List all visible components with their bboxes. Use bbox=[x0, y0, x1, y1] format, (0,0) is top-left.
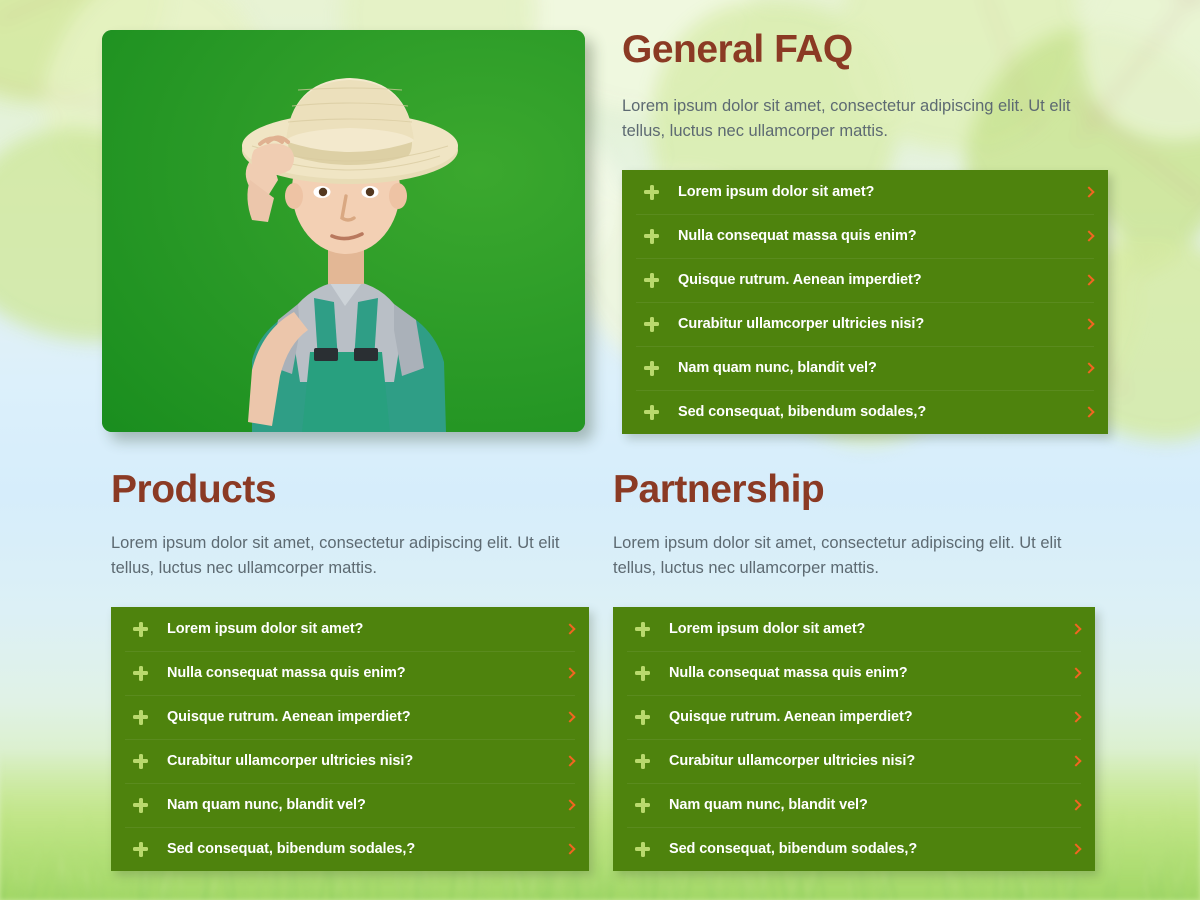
faq-item[interactable]: Curabitur ullamcorper ultricies nisi? bbox=[111, 739, 589, 783]
plus-icon bbox=[635, 798, 650, 813]
partnership-faq-list: Lorem ipsum dolor sit amet?Nulla consequ… bbox=[613, 607, 1095, 871]
grass-blade bbox=[22, 846, 28, 900]
plus-icon bbox=[133, 666, 148, 681]
chevron-right-icon[interactable] bbox=[1071, 842, 1081, 856]
faq-item[interactable]: Nam quam nunc, blandit vel? bbox=[622, 346, 1108, 390]
faq-item[interactable]: Quisque rutrum. Aenean imperdiet? bbox=[613, 695, 1095, 739]
chevron-right-icon[interactable] bbox=[1084, 185, 1094, 199]
faq-item[interactable]: Quisque rutrum. Aenean imperdiet? bbox=[111, 695, 589, 739]
faq-item[interactable]: Sed consequat, bibendum sodales,? bbox=[613, 827, 1095, 871]
plus-icon bbox=[635, 710, 650, 725]
faq-item-label: Nulla consequat massa quis enim? bbox=[669, 665, 1061, 681]
faq-item-label: Nam quam nunc, blandit vel? bbox=[669, 797, 1061, 813]
faq-item[interactable]: Nulla consequat massa quis enim? bbox=[622, 214, 1108, 258]
faq-item[interactable]: Sed consequat, bibendum sodales,? bbox=[111, 827, 589, 871]
grass-blade bbox=[208, 868, 219, 900]
grass-blade bbox=[954, 870, 958, 900]
plus-icon bbox=[635, 622, 650, 637]
hero-image-card bbox=[102, 30, 585, 432]
faq-item[interactable]: Nulla consequat massa quis enim? bbox=[613, 651, 1095, 695]
chevron-right-icon[interactable] bbox=[1071, 622, 1081, 636]
chevron-right-icon[interactable] bbox=[1084, 317, 1094, 331]
page-title: General FAQ bbox=[622, 30, 853, 69]
plus-icon bbox=[133, 754, 148, 769]
plus-icon bbox=[133, 798, 148, 813]
grass-blade bbox=[1187, 836, 1200, 900]
faq-item[interactable]: Curabitur ullamcorper ultricies nisi? bbox=[622, 302, 1108, 346]
faq-item-label: Curabitur ullamcorper ultricies nisi? bbox=[678, 316, 1074, 332]
plus-icon bbox=[133, 622, 148, 637]
chevron-right-icon[interactable] bbox=[565, 798, 575, 812]
chevron-right-icon[interactable] bbox=[565, 710, 575, 724]
faq-item-label: Quisque rutrum. Aenean imperdiet? bbox=[678, 272, 1074, 288]
chevron-right-icon[interactable] bbox=[1084, 229, 1094, 243]
faq-item-label: Nam quam nunc, blandit vel? bbox=[678, 360, 1074, 376]
faq-item-label: Quisque rutrum. Aenean imperdiet? bbox=[167, 709, 555, 725]
faq-item-label: Lorem ipsum dolor sit amet? bbox=[167, 621, 555, 637]
chevron-right-icon[interactable] bbox=[1071, 666, 1081, 680]
plus-icon bbox=[644, 317, 659, 332]
chevron-right-icon[interactable] bbox=[565, 842, 575, 856]
grass-blade bbox=[593, 812, 609, 900]
chevron-right-icon[interactable] bbox=[565, 754, 575, 768]
faq-item[interactable]: Lorem ipsum dolor sit amet? bbox=[613, 607, 1095, 651]
faq-item[interactable]: Quisque rutrum. Aenean imperdiet? bbox=[622, 258, 1108, 302]
faq-item[interactable]: Nam quam nunc, blandit vel? bbox=[111, 783, 589, 827]
gardener-photo bbox=[102, 30, 585, 432]
faq-item[interactable]: Sed consequat, bibendum sodales,? bbox=[622, 390, 1108, 434]
general-faq-description: Lorem ipsum dolor sit amet, consectetur … bbox=[622, 94, 1108, 144]
chevron-right-icon[interactable] bbox=[1084, 273, 1094, 287]
faq-item[interactable]: Nulla consequat massa quis enim? bbox=[111, 651, 589, 695]
faq-item[interactable]: Lorem ipsum dolor sit amet? bbox=[111, 607, 589, 651]
plus-icon bbox=[635, 754, 650, 769]
faq-item-label: Nulla consequat massa quis enim? bbox=[167, 665, 555, 681]
faq-item-label: Nulla consequat massa quis enim? bbox=[678, 228, 1074, 244]
chevron-right-icon[interactable] bbox=[1071, 710, 1081, 724]
faq-page: General FAQ Lorem ipsum dolor sit amet, … bbox=[0, 0, 1200, 900]
chevron-right-icon[interactable] bbox=[565, 622, 575, 636]
faq-item-label: Sed consequat, bibendum sodales,? bbox=[167, 841, 555, 857]
plus-icon bbox=[644, 273, 659, 288]
plus-icon bbox=[644, 361, 659, 376]
faq-item[interactable]: Nam quam nunc, blandit vel? bbox=[613, 783, 1095, 827]
faq-item-label: Sed consequat, bibendum sodales,? bbox=[678, 404, 1074, 420]
products-description: Lorem ipsum dolor sit amet, consectetur … bbox=[111, 531, 589, 581]
faq-item-label: Quisque rutrum. Aenean imperdiet? bbox=[669, 709, 1061, 725]
partnership-description: Lorem ipsum dolor sit amet, consectetur … bbox=[613, 531, 1095, 581]
grass-blade bbox=[68, 850, 71, 900]
general-faq-list: Lorem ipsum dolor sit amet?Nulla consequ… bbox=[622, 170, 1108, 434]
plus-icon bbox=[644, 229, 659, 244]
faq-item-label: Lorem ipsum dolor sit amet? bbox=[678, 184, 1074, 200]
plus-icon bbox=[133, 842, 148, 857]
faq-item-label: Curabitur ullamcorper ultricies nisi? bbox=[669, 753, 1061, 769]
faq-item[interactable]: Lorem ipsum dolor sit amet? bbox=[622, 170, 1108, 214]
faq-item-label: Sed consequat, bibendum sodales,? bbox=[669, 841, 1061, 857]
plus-icon bbox=[644, 405, 659, 420]
products-faq-list: Lorem ipsum dolor sit amet?Nulla consequ… bbox=[111, 607, 589, 871]
partnership-title: Partnership bbox=[613, 470, 824, 509]
plus-icon bbox=[635, 666, 650, 681]
plus-icon bbox=[635, 842, 650, 857]
plus-icon bbox=[644, 185, 659, 200]
faq-item-label: Nam quam nunc, blandit vel? bbox=[167, 797, 555, 813]
plus-icon bbox=[133, 710, 148, 725]
chevron-right-icon[interactable] bbox=[565, 666, 575, 680]
products-title: Products bbox=[111, 470, 276, 509]
chevron-right-icon[interactable] bbox=[1084, 405, 1094, 419]
chevron-right-icon[interactable] bbox=[1071, 754, 1081, 768]
faq-item-label: Curabitur ullamcorper ultricies nisi? bbox=[167, 753, 555, 769]
chevron-right-icon[interactable] bbox=[1084, 361, 1094, 375]
faq-item[interactable]: Curabitur ullamcorper ultricies nisi? bbox=[613, 739, 1095, 783]
faq-item-label: Lorem ipsum dolor sit amet? bbox=[669, 621, 1061, 637]
chevron-right-icon[interactable] bbox=[1071, 798, 1081, 812]
